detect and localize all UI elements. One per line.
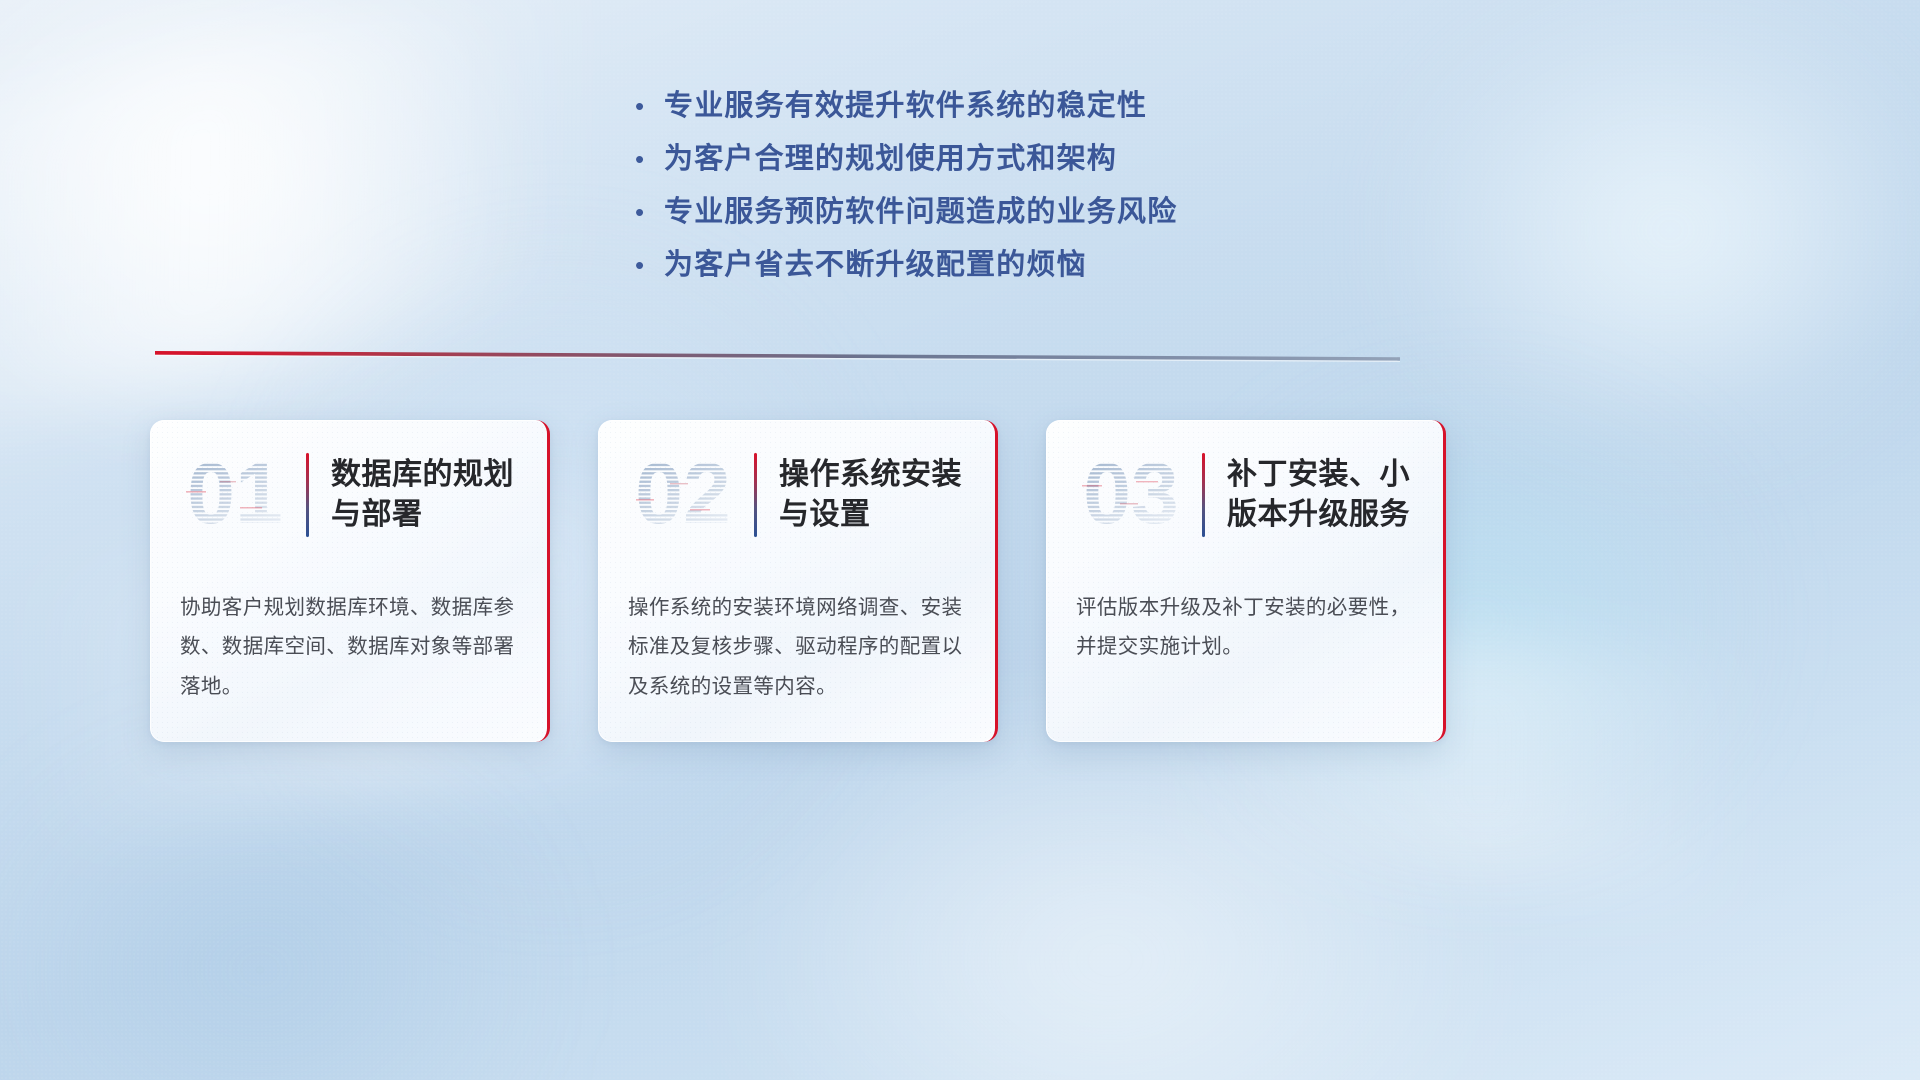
card-header: 03 补丁安装、小版本升级服务 (1046, 420, 1443, 570)
service-card[interactable]: 02 操作系统安装与设置 操作系统的安装环境网络调查、安装标准及复核步骤、驱动程… (598, 420, 998, 742)
card-description: 协助客户规划数据库环境、数据库参数、数据库空间、数据库对象等部署落地。 (150, 570, 547, 706)
card-header: 02 操作系统安装与设置 (598, 420, 995, 570)
list-item: • 为客户省去不断升级配置的烦恼 (630, 251, 1290, 304)
svg-text:02: 02 (635, 447, 731, 542)
list-item: • 为客户合理的规划使用方式和架构 (630, 145, 1290, 198)
bullet-point-icon: • (630, 146, 664, 172)
bullet-point-icon: • (630, 252, 664, 278)
benefits-bullet-list: • 专业服务有效提升软件系统的稳定性 • 为客户合理的规划使用方式和架构 • 专… (0, 92, 1920, 304)
bullet-point-icon: • (630, 199, 664, 225)
card-accent-rule (754, 453, 757, 537)
card-accent-rule (306, 453, 309, 537)
list-item: • 专业服务预防软件问题造成的业务风险 (630, 198, 1290, 251)
card-description: 操作系统的安装环境网络调查、安装标准及复核步骤、驱动程序的配置以及系统的设置等内… (598, 570, 995, 706)
card-title: 操作系统安装与设置 (779, 455, 973, 535)
service-card[interactable]: 01 数据库的规划与部署 协助客户规划数据库环境、数据库参数、数据库空间、数据库… (150, 420, 550, 742)
bullet-text: 为客户省去不断升级配置的烦恼 (664, 251, 1087, 280)
card-number-watermark: 02 (624, 447, 742, 543)
card-accent-rule (1202, 453, 1205, 537)
slide-canvas: • 专业服务有效提升软件系统的稳定性 • 为客户合理的规划使用方式和架构 • 专… (0, 0, 1920, 1080)
bullet-text: 专业服务预防软件问题造成的业务风险 (664, 198, 1177, 227)
card-header: 01 数据库的规划与部署 (150, 420, 547, 570)
bullet-text: 为客户合理的规划使用方式和架构 (664, 145, 1117, 174)
card-number-watermark: 01 (176, 447, 294, 543)
card-description: 评估版本升级及补丁安装的必要性，并提交实施计划。 (1046, 570, 1443, 667)
service-card-row: 01 数据库的规划与部署 协助客户规划数据库环境、数据库参数、数据库空间、数据库… (150, 420, 1770, 742)
svg-text:01: 01 (187, 447, 283, 542)
card-title: 数据库的规划与部署 (331, 455, 525, 535)
card-number-watermark: 03 (1072, 447, 1190, 543)
svg-text:03: 03 (1083, 447, 1179, 542)
section-divider (155, 348, 1400, 364)
service-card[interactable]: 03 补丁安装、小版本升级服务 评估版本升级及补丁安装的必要性，并提交实施计划。 (1046, 420, 1446, 742)
bullet-text: 专业服务有效提升软件系统的稳定性 (664, 92, 1147, 121)
list-item: • 专业服务有效提升软件系统的稳定性 (630, 92, 1290, 145)
card-title: 补丁安装、小版本升级服务 (1227, 455, 1421, 535)
bullet-point-icon: • (630, 93, 664, 119)
